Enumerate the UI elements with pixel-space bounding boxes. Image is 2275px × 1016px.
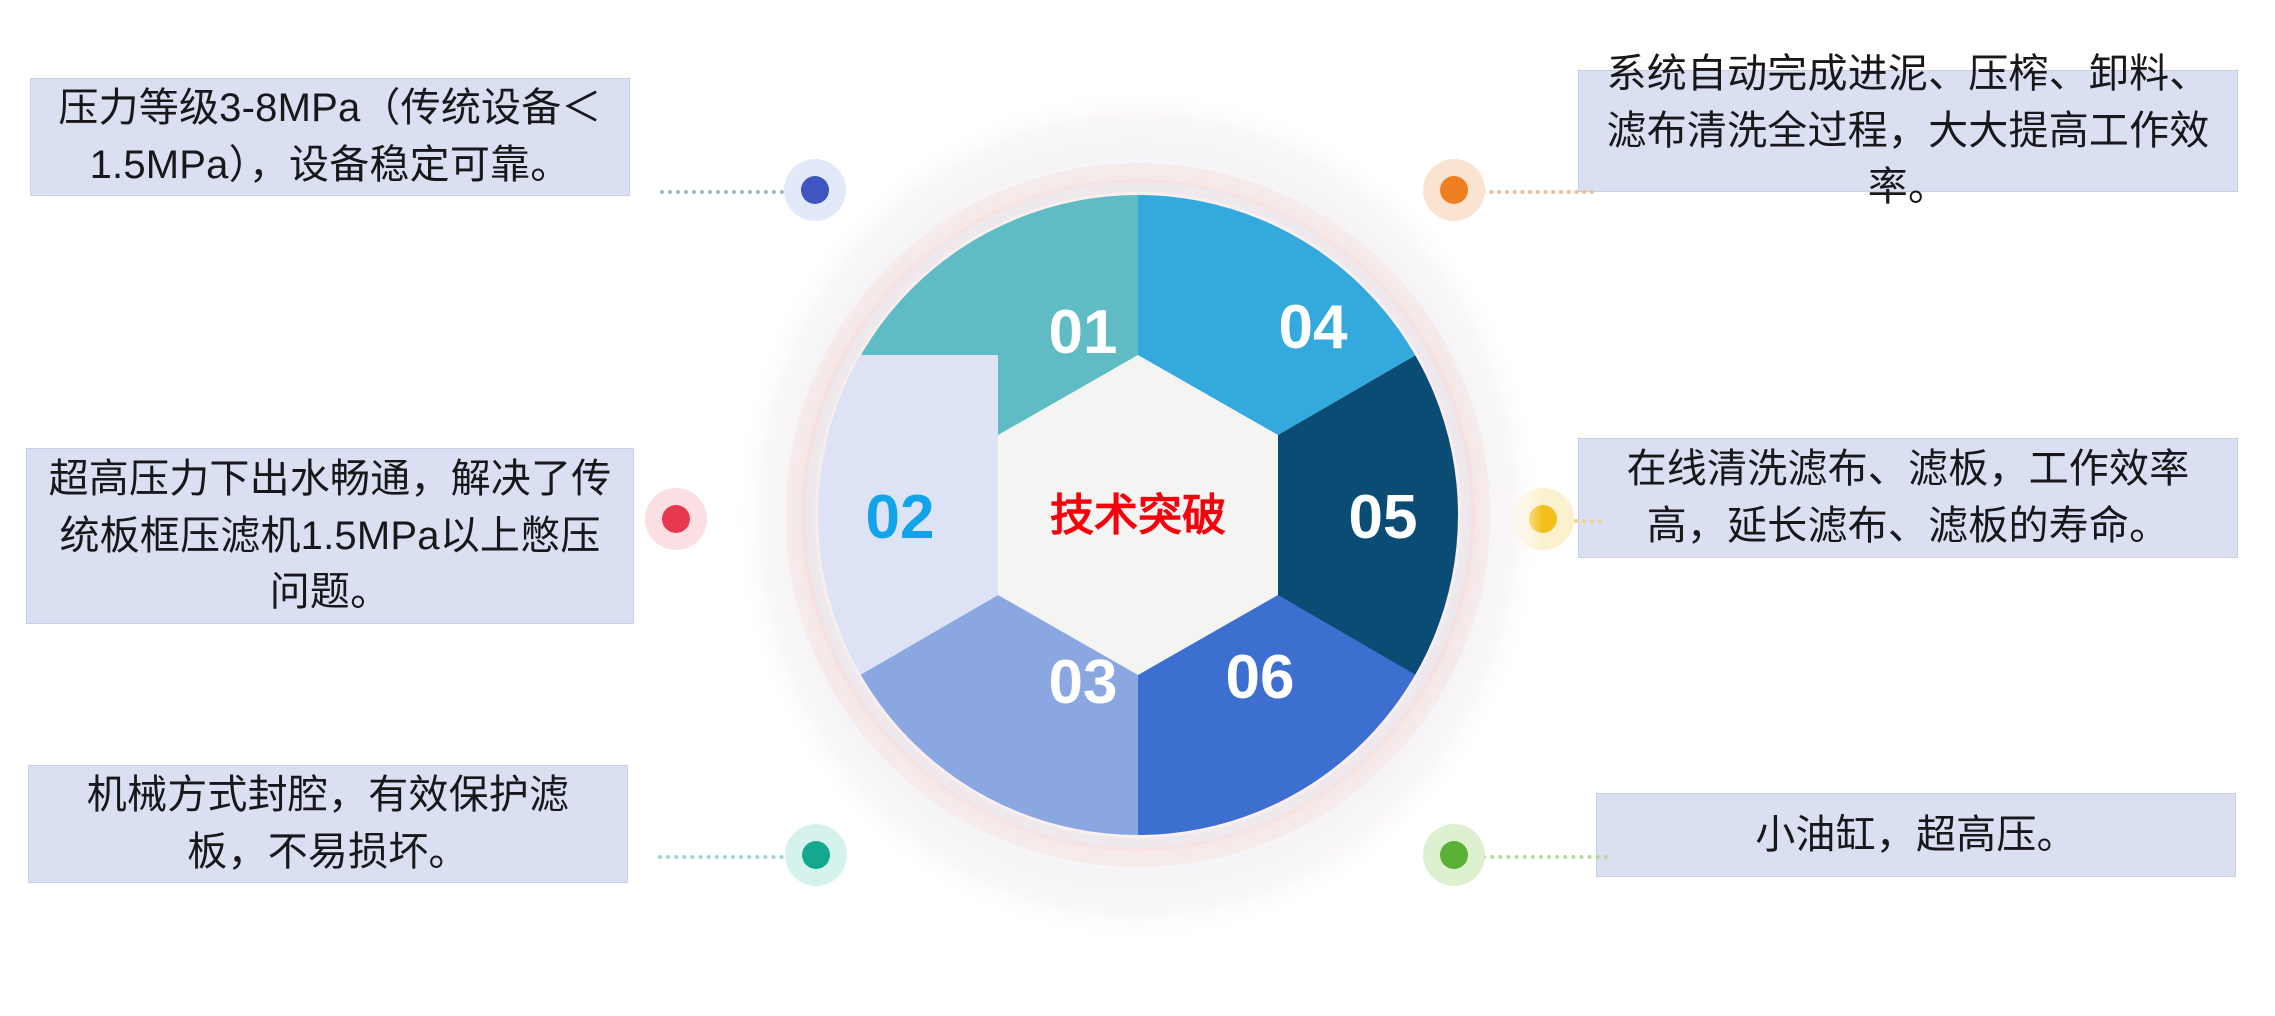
segment-number-06: 06	[1226, 643, 1295, 712]
callout-box-6[interactable]: 小油缸，超高压。	[1596, 793, 2236, 877]
segment-number-01: 01	[1049, 298, 1118, 367]
callout-text-3: 机械方式封腔，有效保护滤板，不易损坏。	[47, 767, 609, 881]
callout-box-5[interactable]: 在线清洗滤布、滤板，工作效率高，延长滤布、滤板的寿命。	[1578, 438, 2238, 558]
callout-text-5: 在线清洗滤布、滤板，工作效率高，延长滤布、滤板的寿命。	[1597, 441, 2219, 555]
callout-text-4: 系统自动完成进泥、压榨、卸料、滤布清洗全过程，大大提高工作效率。	[1597, 46, 2219, 216]
callout-text-2: 超高压力下出水畅通，解决了传统板框压滤机1.5MPa以上憋压问题。	[45, 451, 615, 621]
callout-text-6: 小油缸，超高压。	[1615, 807, 2217, 864]
infographic-canvas: 压力等级3-8MPa（传统设备＜1.5MPa），设备稳定可靠。 超高压力下出水畅…	[0, 0, 2275, 1016]
connector-dot-core-2	[662, 505, 690, 533]
segment-number-02: 02	[866, 483, 935, 552]
callout-box-3[interactable]: 机械方式封腔，有效保护滤板，不易损坏。	[28, 765, 628, 883]
segment-number-05: 05	[1349, 483, 1418, 552]
connector-dot-2[interactable]	[645, 488, 707, 550]
shutter-wheel-diagram: 01 02 03 04 05 06 技术突破	[728, 78, 1548, 948]
callout-text-1: 压力等级3-8MPa（传统设备＜1.5MPa），设备稳定可靠。	[49, 80, 611, 194]
segment-number-03: 03	[1049, 648, 1118, 717]
callout-box-2[interactable]: 超高压力下出水畅通，解决了传统板框压滤机1.5MPa以上憋压问题。	[26, 448, 634, 624]
callout-box-4[interactable]: 系统自动完成进泥、压榨、卸料、滤布清洗全过程，大大提高工作效率。	[1578, 70, 2238, 192]
center-label: 技术突破	[1050, 491, 1226, 540]
callout-box-1[interactable]: 压力等级3-8MPa（传统设备＜1.5MPa），设备稳定可靠。	[30, 78, 630, 196]
segment-number-04: 04	[1279, 293, 1348, 362]
